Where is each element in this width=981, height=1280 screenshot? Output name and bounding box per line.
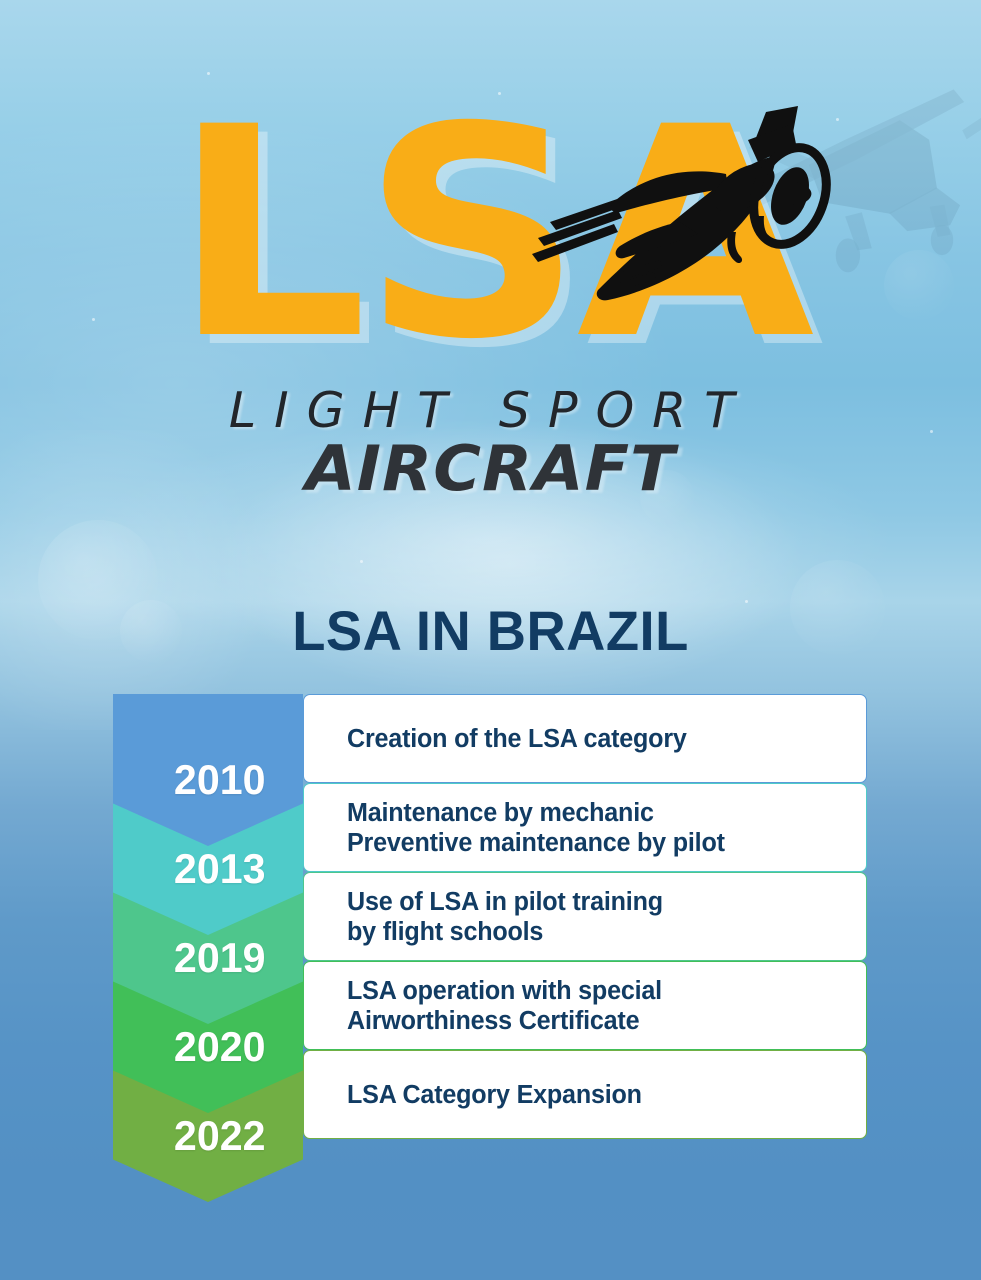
timeline-chevron-2010[interactable]: 2010 [113,694,303,846]
lsa-logo: LSA [0,96,981,516]
logo-tagline-light-sport: LIGHT SPORT [0,382,981,439]
timeline-year-label: 2010 [174,756,266,846]
timeline-year-label: 2013 [174,845,266,935]
timeline-year-label: 2019 [174,934,266,1024]
timeline: 2010 Creation of the LSA category 2013 M… [113,694,873,1174]
timeline-year-label: 2020 [174,1023,266,1113]
timeline-card-2010[interactable]: Creation of the LSA category [303,694,867,783]
timeline-year-label: 2022 [174,1112,266,1202]
infographic-poster: LSA [0,0,981,1280]
timeline-row: 2010 Creation of the LSA category [113,694,873,846]
logo-wordmark-wrap: LSA [0,96,981,386]
logo-wordmark: LSA [172,96,808,374]
logo-tagline-aircraft: AIRCRAFT [0,432,981,505]
timeline-card-text: Creation of the LSA category [347,724,687,754]
page-title: LSA IN BRAZIL [15,598,967,663]
